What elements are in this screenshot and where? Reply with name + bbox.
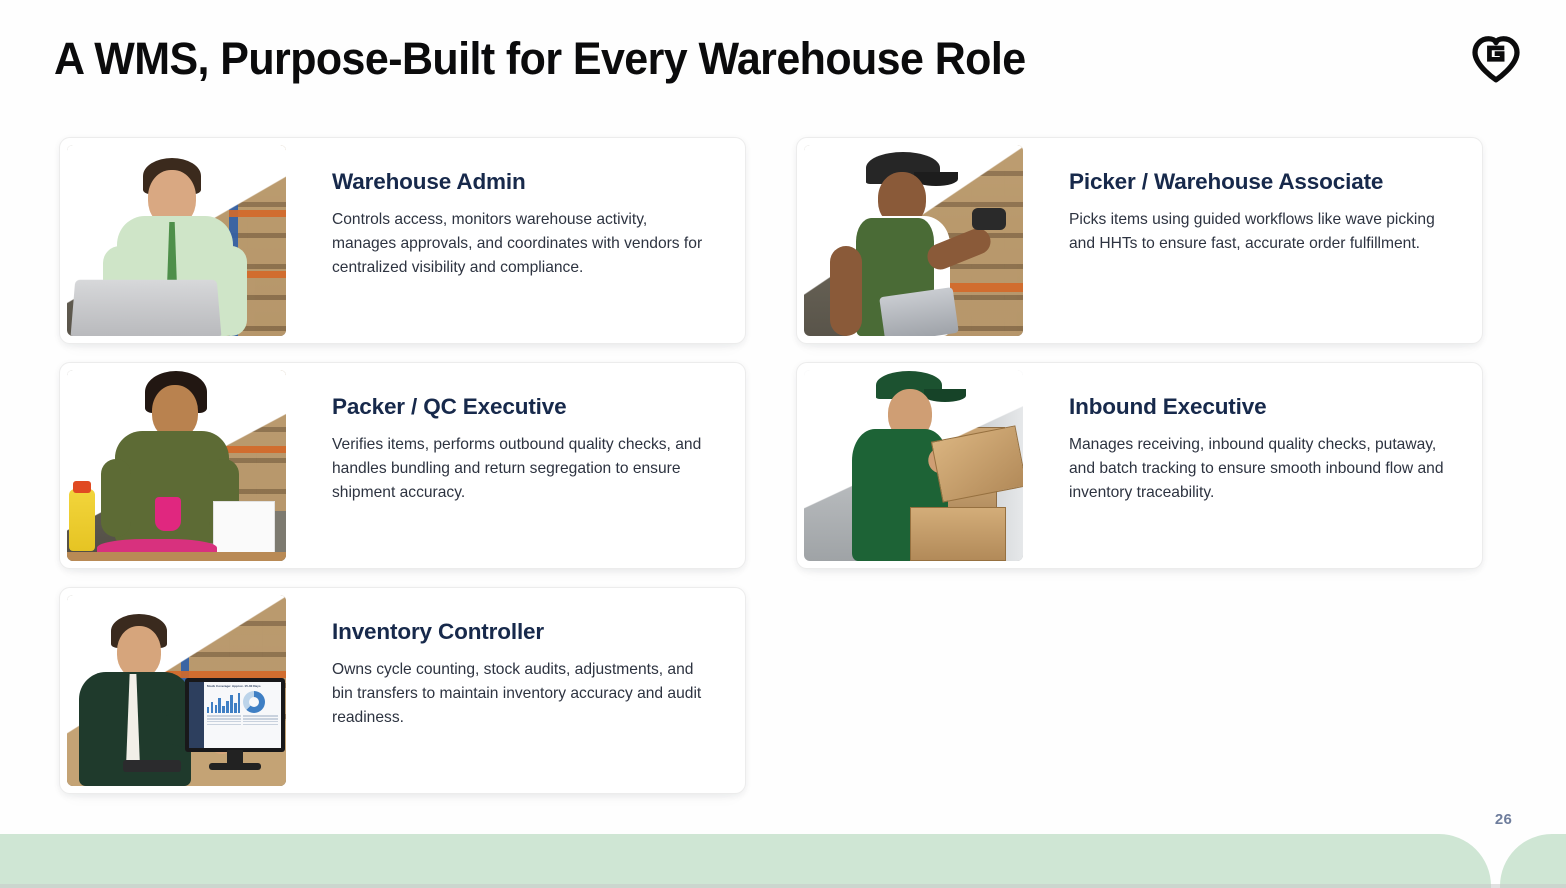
footer-panel-gap [1491,834,1500,888]
role-card[interactable]: Picker / Warehouse Associate Picks items… [796,137,1483,344]
role-description: Verifies items, performs outbound qualit… [332,433,715,505]
footer-panel-left [0,834,1491,888]
slide-header: A WMS, Purpose-Built for Every Warehouse… [54,34,1524,104]
card-text-block: Inventory Controller Owns cycle counting… [286,588,745,793]
slide-canvas: A WMS, Purpose-Built for Every Warehouse… [0,0,1566,888]
heart-logo-icon [1468,30,1524,86]
role-title: Packer / QC Executive [332,394,715,420]
inventory-controller-photo: Stock Coverage: Approx. 15-30 Days [67,595,286,786]
footer-panel-right [1500,834,1566,888]
card-text-block: Packer / QC Executive Verifies items, pe… [286,363,745,568]
card-text-block: Picker / Warehouse Associate Picks items… [1023,138,1482,343]
role-title: Inbound Executive [1069,394,1452,420]
role-card[interactable]: Inbound Executive Manages receiving, inb… [796,362,1483,569]
role-card[interactable]: Warehouse Admin Controls access, monitor… [59,137,746,344]
role-title: Inventory Controller [332,619,715,645]
role-description: Manages receiving, inbound quality check… [1069,433,1452,505]
card-text-block: Inbound Executive Manages receiving, inb… [1023,363,1482,568]
role-description: Owns cycle counting, stock audits, adjus… [332,658,715,730]
packer-qc-photo [67,370,286,561]
role-description: Controls access, monitors warehouse acti… [332,208,715,280]
footer-decoration-band [0,834,1566,888]
card-text-block: Warehouse Admin Controls access, monitor… [286,138,745,343]
role-title: Warehouse Admin [332,169,715,195]
dashboard-screen-title: Stock Coverage: Approx. 15-30 Days [207,685,278,688]
warehouse-admin-photo [67,145,286,336]
role-description: Picks items using guided workflows like … [1069,208,1452,256]
role-card[interactable]: Packer / QC Executive Verifies items, pe… [59,362,746,569]
role-card-grid: Warehouse Admin Controls access, monitor… [59,137,1483,794]
role-title: Picker / Warehouse Associate [1069,169,1452,195]
inbound-executive-photo [804,370,1023,561]
role-card[interactable]: Stock Coverage: Approx. 15-30 Days [59,587,746,794]
page-number: 26 [1495,811,1512,828]
page-title: A WMS, Purpose-Built for Every Warehouse… [54,34,1026,84]
picker-associate-photo [804,145,1023,336]
footer-baseline [0,884,1566,888]
